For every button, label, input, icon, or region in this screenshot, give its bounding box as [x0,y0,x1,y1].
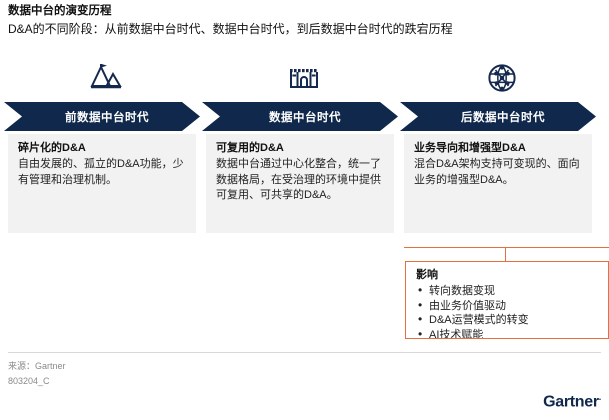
impact-box: 影响 转向数据变现 由业务价值驱动 D&A运营模式的转变 AI技术赋能 [405,261,609,339]
page-header: 数据中台的演变历程 D&A的不同阶段：从前数据中台时代、数据中台时代，到后数据中… [8,4,603,38]
impact-list: 转向数据变现 由业务价值驱动 D&A运营模式的转变 AI技术赋能 [416,284,600,339]
impact-list-item: 由业务价值驱动 [416,299,600,314]
stage-panel-title-1: 碎片化的D&A [18,141,186,156]
stage-banner-label-3: 后数据中台时代 [461,109,545,125]
impact-list-item: 转向数据变现 [416,284,600,299]
stage-icon-cell-1 [8,58,204,98]
document-id: 803204_C [8,375,50,388]
impact-connector-horizontal-line [404,247,609,248]
page-subtitle: D&A的不同阶段：从前数据中台时代、数据中台时代，到后数据中台时代的跌宕历程 [8,21,603,38]
stage-banner-1[interactable]: 前数据中台时代 [4,102,200,131]
stage-icon-cell-2 [206,58,402,98]
stage-panel-1: 碎片化的D&A 自由发展的、孤立的D&A功能，少有管理和治理机制。 [8,134,196,233]
stage-panel-body-1: 自由发展的、孤立的D&A功能，少有管理和治理机制。 [18,157,186,188]
stage-panels-row: 碎片化的D&A 自由发展的、孤立的D&A功能，少有管理和治理机制。 可复用的D&… [0,134,609,233]
castle-icon [287,63,321,93]
stage-banner-label-1: 前数据中台时代 [65,109,149,125]
stage-banner-row: 前数据中台时代 数据中台时代 后数据中台时代 [0,102,609,132]
footer-divider [8,352,601,353]
source-attribution: 来源：Gartner [8,360,66,373]
stage-panel-body-2: 数据中台通过中心化整合，统一了数据格局，在受治理的环境中提供可复用、可共享的D&… [216,157,384,204]
stage-panel-body-3: 混合D&A架构支持可变现的、面向业务的增强型D&A。 [414,157,582,188]
gartner-logo: Gartner. [543,392,601,411]
stage-banner-2[interactable]: 数据中台时代 [202,102,398,131]
stage-panel-3: 业务导向和增强型D&A 混合D&A架构支持可变现的、面向业务的增强型D&A。 [404,134,592,233]
stage-panel-2: 可复用的D&A 数据中台通过中心化整合，统一了数据格局，在受治理的环境中提供可复… [206,134,394,233]
network-globe-icon [487,63,517,93]
stage-banner-3[interactable]: 后数据中台时代 [400,102,596,131]
gartner-logo-mark: . [599,392,601,402]
impact-list-item: AI技术赋能 [416,328,600,340]
mountain-flag-icon [89,63,123,93]
stage-icon-cell-3 [404,58,600,98]
stage-panel-title-3: 业务导向和增强型D&A [414,141,582,156]
page-title: 数据中台的演变历程 [8,4,603,19]
stage-panel-title-2: 可复用的D&A [216,141,384,156]
stage-banner-label-2: 数据中台时代 [269,109,341,125]
impact-connector-vertical-line [505,247,506,261]
impact-list-item: D&A运营模式的转变 [416,313,600,328]
impact-title: 影响 [416,268,600,282]
stage-icons-row [0,58,609,98]
gartner-logo-text: Gartner [543,393,599,410]
